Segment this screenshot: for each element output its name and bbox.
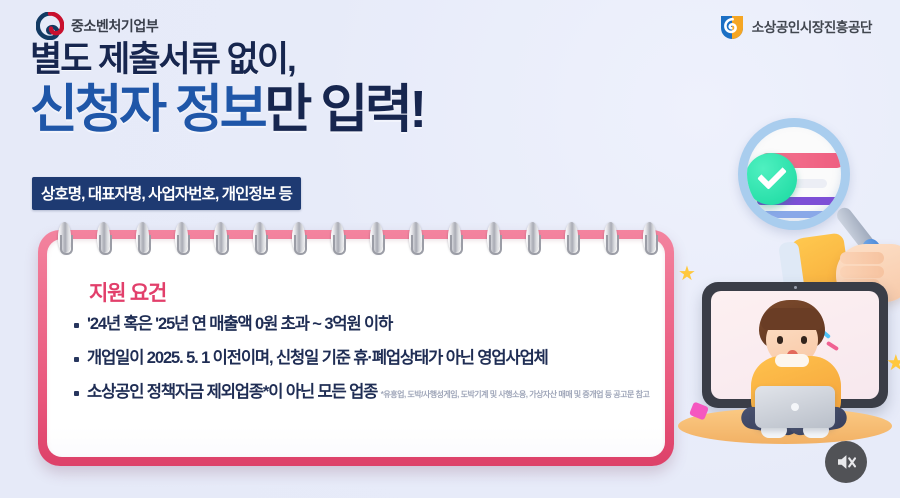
green-check-icon <box>745 153 797 205</box>
ministry-logo-block: 중소벤처기업부 <box>36 12 158 40</box>
headline-block: 별도 제출서류 없이, 신청자 정보만 입력! <box>30 42 424 136</box>
requirement-text-wrap: 소상공인 정책자금 제외업종*이 아닌 모든 업종 *유흥업, 도박/사행성게임… <box>87 383 649 401</box>
requirement-text-wrap: 개업일이 2025. 5. 1 이전이며, 신청일 기준 휴·폐업상태가 아닌 … <box>87 349 548 367</box>
requirement-item: 개업일이 2025. 5. 1 이전이며, 신청일 기준 휴·폐업상태가 아닌 … <box>74 349 649 367</box>
headline-line-1: 별도 제출서류 없이, <box>30 42 424 78</box>
requirement-item: '24년 혹은 '25년 연 매출액 0원 초과 ~ 3억원 이하 <box>74 315 649 333</box>
speaker-muted-icon <box>834 450 858 474</box>
requirements-list: '24년 혹은 '25년 연 매출액 0원 초과 ~ 3억원 이하 개업일이 2… <box>74 315 649 417</box>
tablet-camera-icon <box>794 286 797 289</box>
requirement-text: '24년 혹은 '25년 연 매출액 0원 초과 ~ 3억원 이하 <box>87 315 392 333</box>
headline-line-2: 신청자 정보만 입력! <box>30 84 424 136</box>
notepad-paper: 지원 요건 '24년 혹은 '25년 연 매출액 0원 초과 ~ 3억원 이하 … <box>47 239 665 457</box>
requirements-title: 지원 요건 <box>89 277 166 307</box>
finger <box>840 266 884 278</box>
laptop-icon <box>755 386 835 428</box>
eye <box>801 336 807 344</box>
ministry-name: 중소벤처기업부 <box>71 16 158 36</box>
org-logo-row: 중소벤처기업부 소상공인시장진흥공단 <box>0 10 900 44</box>
magnifier-lens <box>738 118 850 230</box>
semas-swirl-logo-icon <box>719 13 745 39</box>
requirements-notepad: 지원 요건 '24년 혹은 '25년 연 매출액 0원 초과 ~ 3억원 이하 … <box>38 230 674 466</box>
mute-button[interactable] <box>825 441 867 483</box>
requirement-text: 개업일이 2025. 5. 1 이전이며, 신청일 기준 휴·폐업상태가 아닌 … <box>87 349 548 367</box>
magnifying-glass-illustration <box>730 118 900 298</box>
person-with-laptop-illustration <box>737 300 855 448</box>
requirement-text-wrap: '24년 혹은 '25년 연 매출액 0원 초과 ~ 3억원 이하 <box>87 315 392 333</box>
requirement-text: 소상공인 정책자금 제외업종*이 아닌 모든 업종 <box>87 383 377 401</box>
hair-fringe <box>761 308 823 330</box>
semas-name: 소상공인시장진흥공단 <box>752 16 872 36</box>
bullet-icon <box>74 357 79 362</box>
bullet-icon <box>74 323 79 328</box>
collar <box>775 354 809 367</box>
finger <box>840 252 884 264</box>
korea-government-taegeuk-logo-icon <box>36 12 64 40</box>
promo-banner-video: 중소벤처기업부 소상공인시장진흥공단 별도 제출서류 없이, 신청자 정보만 입… <box>0 0 900 498</box>
eye <box>777 336 783 344</box>
semas-logo-block: 소상공인시장진흥공단 <box>719 13 872 39</box>
document-line <box>753 211 845 218</box>
headline-subnote-badge: 상호명, 대표자명, 사업자번호, 개인정보 등 <box>32 177 301 210</box>
headline-rest-text: 만 입력! <box>264 81 423 139</box>
yellow-star-icon: ★ <box>886 352 900 374</box>
requirement-item: 소상공인 정책자금 제외업종*이 아닌 모든 업종 *유흥업, 도박/사행성게임… <box>74 383 649 401</box>
bullet-icon <box>74 391 79 396</box>
requirement-footnote: *유흥업, 도박/사행성게임, 도박기계 및 사행소응, 가상자산 매매 및 중… <box>381 390 650 399</box>
headline-accent-text: 신청자 정보 <box>30 81 264 139</box>
